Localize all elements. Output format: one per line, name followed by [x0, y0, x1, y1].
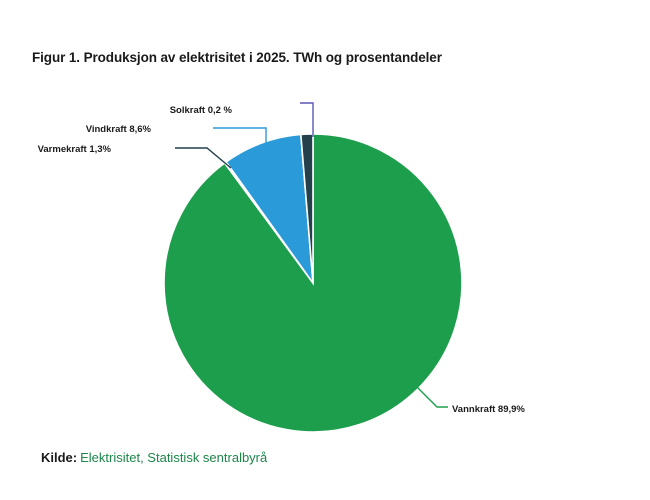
- source-line: Kilde:Elektrisitet, Statistisk sentralby…: [41, 450, 267, 465]
- slice-label-vindkraft: Vindkraft 8,6%: [86, 124, 152, 135]
- slice-label-solkraft: Solkraft 0,2 %: [170, 105, 233, 116]
- pie-chart-svg: Vannkraft 89,9% Solkraft 0,2 % Vindkraft…: [0, 0, 650, 500]
- leader-line-solkraft: [300, 103, 313, 137]
- slice-label-vannkraft: Vannkraft 89,9%: [452, 404, 525, 415]
- source-link[interactable]: Elektrisitet, Statistisk sentralbyrå: [80, 450, 267, 465]
- slice-label-varmekraft: Varmekraft 1,3%: [38, 144, 112, 155]
- figure-container: Figur 1. Produksjon av elektrisitet i 20…: [0, 0, 650, 500]
- source-label: Kilde:: [41, 450, 77, 465]
- pie-chart: Vannkraft 89,9% Solkraft 0,2 % Vindkraft…: [0, 0, 650, 500]
